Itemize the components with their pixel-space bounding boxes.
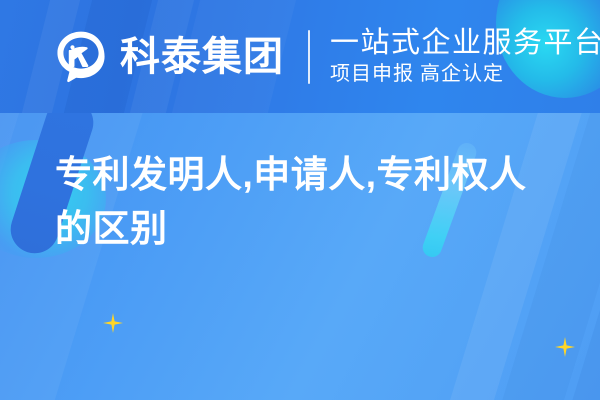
ketai-satellite-dish-logo-icon xyxy=(52,28,110,86)
tagline-block: 一站式企业服务平台 项目申报 高企认定 xyxy=(330,27,600,85)
sparkle-star-icon xyxy=(555,337,575,357)
brand-name-text: 科泰集团 xyxy=(120,37,284,77)
page-title: 专利发明人,申请人,专利权人的区别 xyxy=(55,148,545,255)
header-divider xyxy=(308,30,310,84)
tagline-secondary: 项目申报 高企认定 xyxy=(330,63,600,86)
brand-header-bar: 科泰集团 一站式企业服务平台 项目申报 高企认定 xyxy=(0,0,600,113)
brand-lockup[interactable]: 科泰集团 xyxy=(52,28,284,86)
sparkle-star-icon xyxy=(103,313,123,333)
promo-banner-card: 科泰集团 一站式企业服务平台 项目申报 高企认定 专利发明人,申请人,专利权人的… xyxy=(0,0,600,400)
tagline-primary: 一站式企业服务平台 xyxy=(330,27,600,59)
